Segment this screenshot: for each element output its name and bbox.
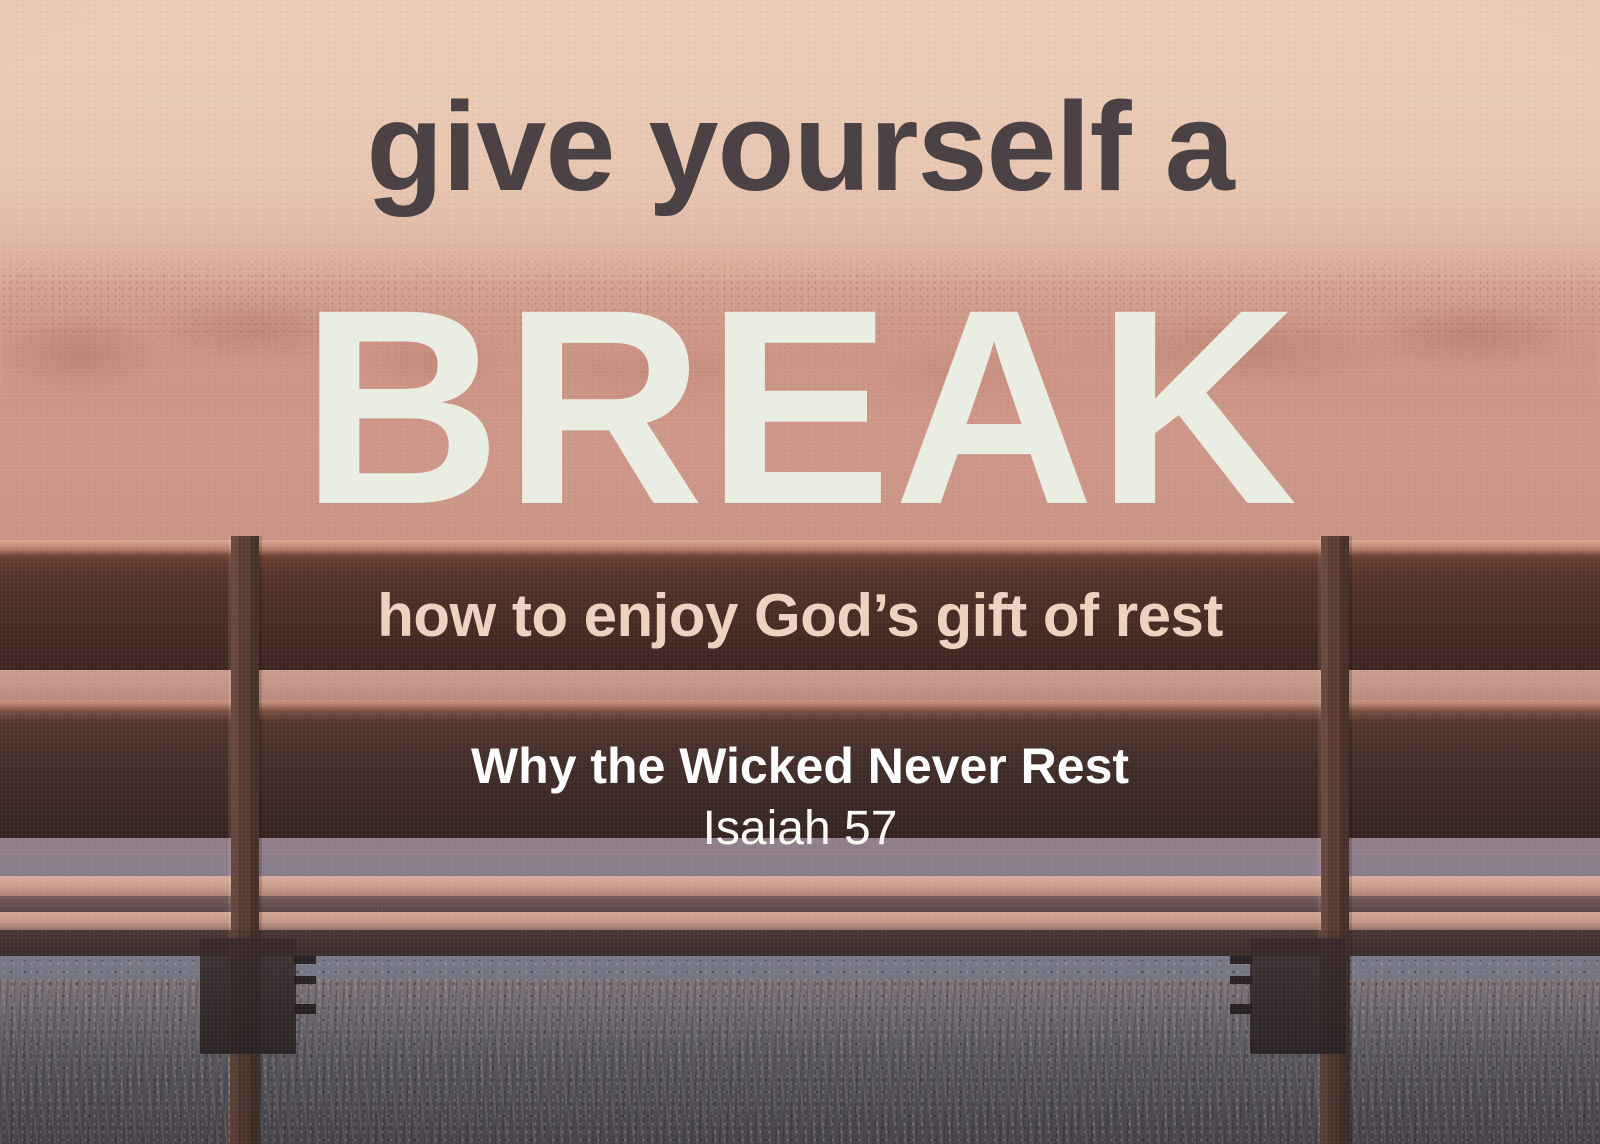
headline-eyebrow: give yourself a [0, 84, 1600, 210]
headline-subtitle: how to enjoy God’s gift of rest [0, 580, 1600, 652]
message-title: Why the Wicked Never Rest [0, 736, 1600, 796]
sermon-title-slide: give yourself a BREAK how to enjoy God’s… [0, 0, 1600, 1144]
headline-word-break: BREAK [0, 268, 1600, 546]
slide-text-layer: give yourself a BREAK how to enjoy God’s… [0, 0, 1600, 1144]
scripture-reference: Isaiah 57 [0, 800, 1600, 858]
